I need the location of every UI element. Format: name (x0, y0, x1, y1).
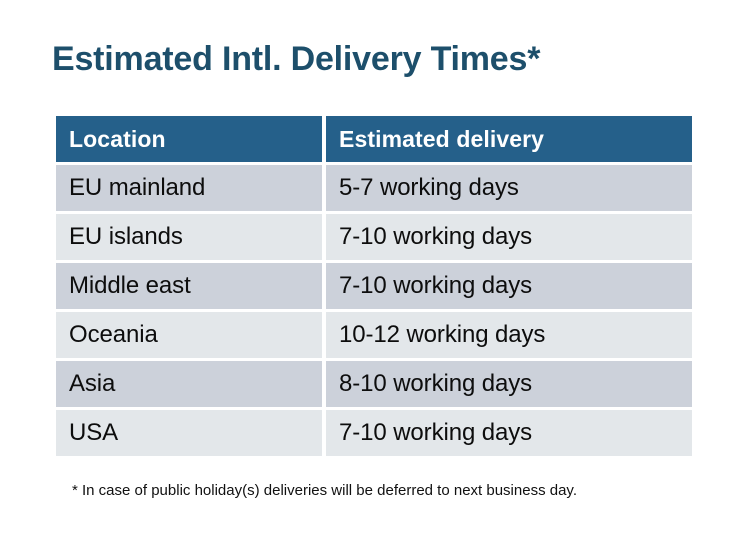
cell-location: Middle east (56, 263, 322, 309)
table-header: Location Estimated delivery (56, 116, 692, 162)
cell-delivery: 5-7 working days (326, 165, 692, 211)
cell-location: EU mainland (56, 165, 322, 211)
cell-delivery: 8-10 working days (326, 361, 692, 407)
cell-delivery: 7-10 working days (326, 263, 692, 309)
column-header-location: Location (56, 116, 322, 162)
cell-location: USA (56, 410, 322, 456)
cell-location: EU islands (56, 214, 322, 260)
column-header-delivery: Estimated delivery (326, 116, 692, 162)
table-row: EU mainland 5-7 working days (56, 165, 692, 211)
table-row: EU islands 7-10 working days (56, 214, 692, 260)
table-row: Asia 8-10 working days (56, 361, 692, 407)
cell-location: Asia (56, 361, 322, 407)
table-row: Middle east 7-10 working days (56, 263, 692, 309)
delivery-times-page: Estimated Intl. Delivery Times* Location… (0, 0, 745, 536)
delivery-times-table: Location Estimated delivery EU mainland … (52, 113, 696, 459)
cell-delivery: 10-12 working days (326, 312, 692, 358)
cell-delivery: 7-10 working days (326, 214, 692, 260)
cell-delivery: 7-10 working days (326, 410, 692, 456)
cell-location: Oceania (56, 312, 322, 358)
table-body: EU mainland 5-7 working days EU islands … (56, 165, 692, 456)
footnote: * In case of public holiday(s) deliverie… (72, 481, 577, 501)
page-title: Estimated Intl. Delivery Times* (52, 38, 540, 80)
table-header-row: Location Estimated delivery (56, 116, 692, 162)
table-row: Oceania 10-12 working days (56, 312, 692, 358)
table-row: USA 7-10 working days (56, 410, 692, 456)
